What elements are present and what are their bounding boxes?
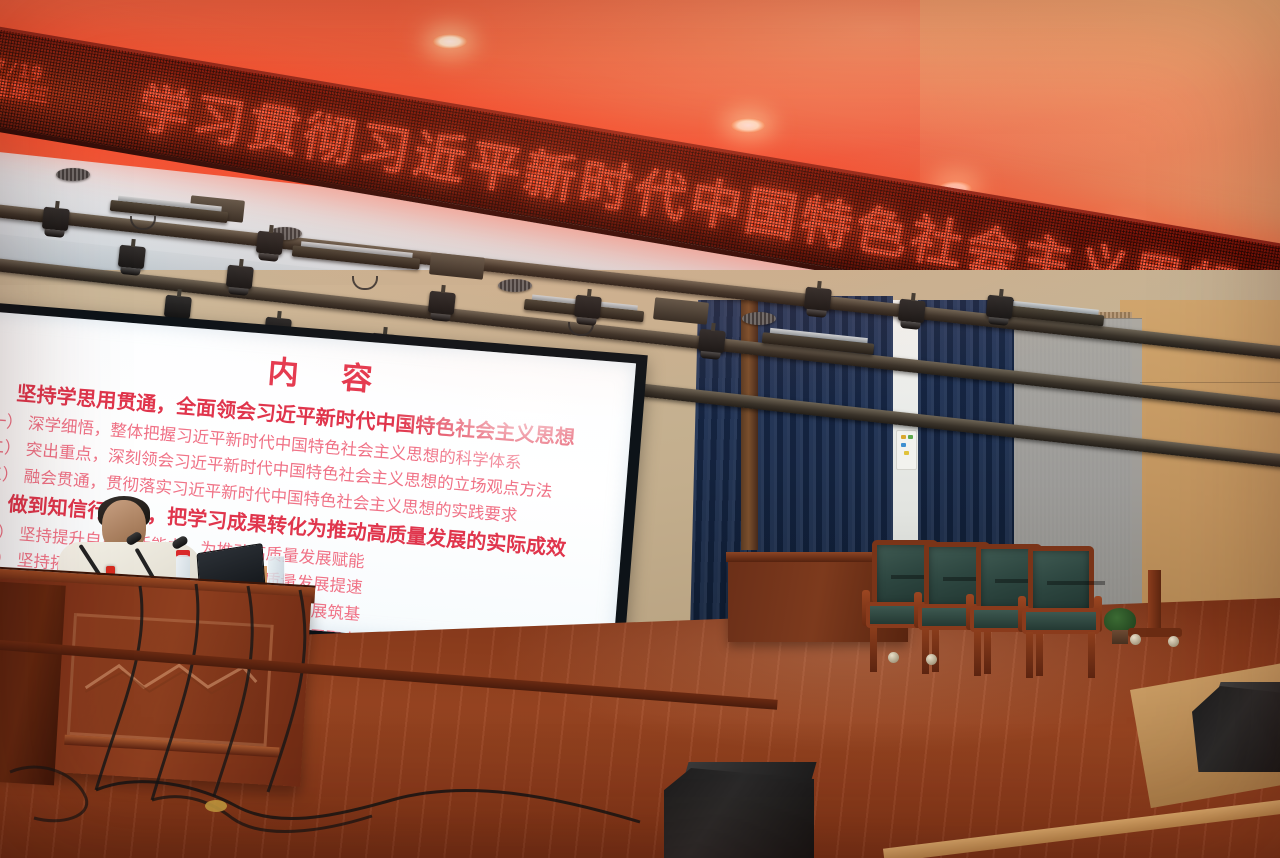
stage-monitor-1 [664,768,814,858]
stand-post [1148,570,1161,632]
fixture-yoke [999,289,1004,297]
switch-indicator-4 [904,451,909,455]
fixture-yoke [55,201,60,209]
fixture-yoke [911,293,916,301]
chair-caster-a [888,652,899,663]
chair-leg-left [870,626,877,672]
switch-indicator-3 [901,443,906,447]
fixture-body [986,295,1014,320]
chair-leg-right [1088,632,1095,678]
chair-leg-left [974,630,981,676]
fixture-body [698,329,726,354]
fixture-body [164,295,192,320]
fixture-yoke [269,225,274,233]
conference-hall-scene: 3/07/19 :53星期三 学习贯彻习近平新时代中国特色社会主义思想主题教育专… [0,0,1280,858]
switch-indicator-2 [908,435,913,439]
ceiling-air-grille-3 [498,279,532,292]
stage-spotlight-14 [897,299,926,331]
wall-seam-1 [1140,382,1280,383]
fixture-body [42,207,70,232]
fixture-body [428,291,456,316]
fixture-yoke [441,285,446,293]
stage-spotlight-2 [117,245,146,277]
chair-seat [1022,608,1100,634]
fixture-yoke [817,281,822,289]
chair-leg-left [1026,632,1033,678]
chair-backrest [1028,546,1094,610]
switch-indicator-1 [901,435,906,439]
stage-spotlight-13 [803,287,832,319]
fixture-body [804,287,832,312]
chair-caster-b [926,654,937,665]
ceiling-air-grille-1 [56,168,90,181]
stage-spotlight-10 [573,295,602,327]
stage-spotlight-15 [985,295,1014,327]
downlight-2 [731,118,765,133]
caster-wheel-2 [1168,636,1179,647]
stage-spotlight-7 [255,231,284,263]
plant-pot [1112,630,1128,644]
fixture-body [898,299,926,324]
ceiling-air-grille-4 [742,312,776,325]
stage-spotlight-1 [41,207,70,239]
fixture-body [574,295,602,320]
fixture-yoke [177,289,182,297]
fixture-yoke [277,311,282,319]
chair-back-seam [1047,581,1105,585]
fixture-body [256,231,284,256]
wall-switch-plate[interactable] [896,430,917,470]
wheeled-stand [1128,570,1182,648]
chair-leg-left [922,628,929,674]
fixture-yoke [587,289,592,297]
downlight-1 [433,34,467,49]
curtain-support-pole [741,300,758,550]
fixture-yoke [131,239,136,247]
fixture-body [118,245,146,270]
stage-spotlight-12 [697,329,726,361]
stage-spotlight-8 [427,291,456,323]
fixture-body [226,265,254,290]
chair-4[interactable] [1018,546,1104,678]
caster-wheel-1 [1130,634,1141,645]
fixture-yoke [711,323,716,331]
fixture-yoke [239,259,244,267]
stage-spotlight-3 [225,265,254,297]
